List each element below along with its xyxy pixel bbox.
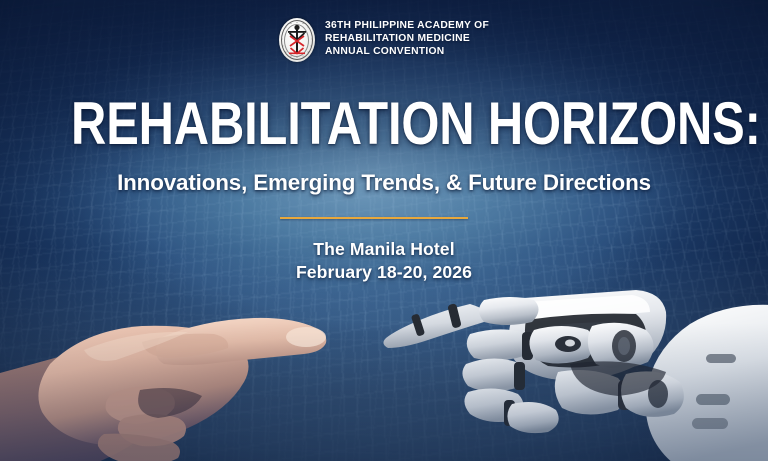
- par-seal-logo-icon: [279, 18, 315, 62]
- header-line-3: ANNUAL CONVENTION: [325, 45, 489, 58]
- event-details: The Manila Hotel February 18-20, 2026: [0, 238, 768, 284]
- robotic-hand-pointing-icon: [374, 268, 768, 461]
- event-subtitle: Innovations, Emerging Trends, & Future D…: [0, 170, 768, 196]
- human-hand-pointing-icon: [0, 286, 352, 461]
- event-banner: 36TH PHILIPPINE ACADEMY OF REHABILITATIO…: [0, 0, 768, 461]
- banner-header: 36TH PHILIPPINE ACADEMY OF REHABILITATIO…: [0, 18, 768, 62]
- event-title: REHABILITATION HORIZONS:: [71, 93, 697, 155]
- header-line-2: REHABILITATION MEDICINE: [325, 32, 489, 45]
- event-venue: The Manila Hotel: [0, 238, 768, 261]
- header-org-text: 36TH PHILIPPINE ACADEMY OF REHABILITATIO…: [325, 18, 489, 59]
- event-dates: February 18-20, 2026: [0, 261, 768, 284]
- gold-divider: [280, 217, 468, 219]
- header-line-1: 36TH PHILIPPINE ACADEMY OF: [325, 19, 489, 32]
